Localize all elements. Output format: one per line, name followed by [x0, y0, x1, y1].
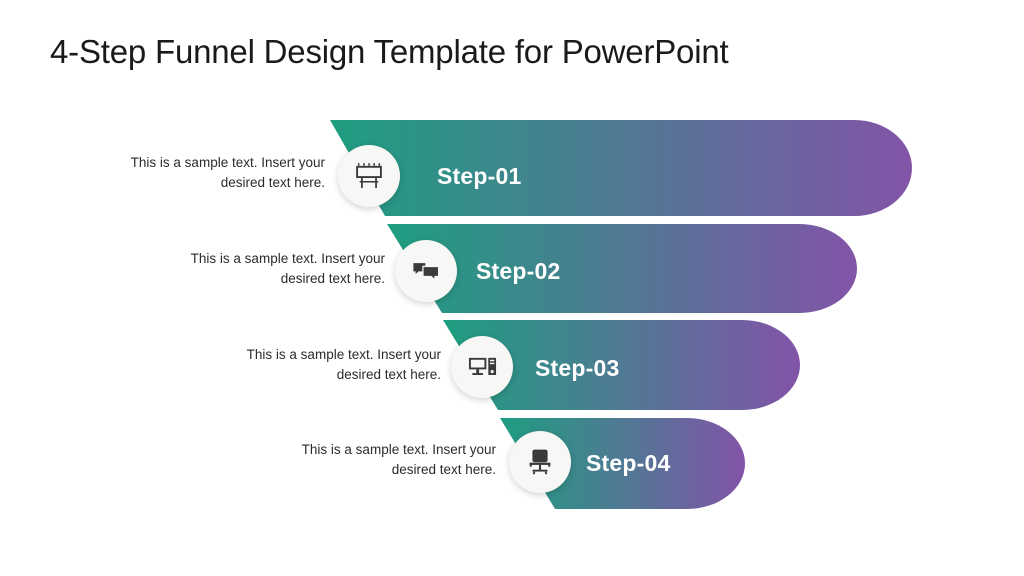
step-label-3: Step-03 [535, 355, 619, 382]
office-chair-icon [526, 448, 554, 476]
step-label-1: Step-01 [437, 163, 521, 190]
billboard-icon [355, 162, 383, 190]
step-icon-circle-2[interactable] [395, 240, 457, 302]
step-description-3: This is a sample text. Insert your desir… [211, 345, 441, 386]
chat-bubbles-icon [412, 257, 440, 285]
step-icon-circle-4[interactable] [509, 431, 571, 493]
funnel-graphic [0, 0, 1024, 576]
step-description-4: This is a sample text. Insert your desir… [266, 440, 496, 481]
funnel-bar-1[interactable] [330, 120, 912, 216]
slide-canvas: 4-Step Funnel Design Template for PowerP… [0, 0, 1024, 576]
step-icon-circle-1[interactable] [338, 145, 400, 207]
step-description-1: This is a sample text. Insert your desir… [95, 153, 325, 194]
step-description-2: This is a sample text. Insert your desir… [155, 249, 385, 290]
funnel-bar-2[interactable] [387, 224, 857, 313]
desktop-computer-icon [468, 353, 497, 382]
step-icon-circle-3[interactable] [451, 336, 513, 398]
step-label-2: Step-02 [476, 258, 560, 285]
step-label-4: Step-04 [586, 450, 670, 477]
